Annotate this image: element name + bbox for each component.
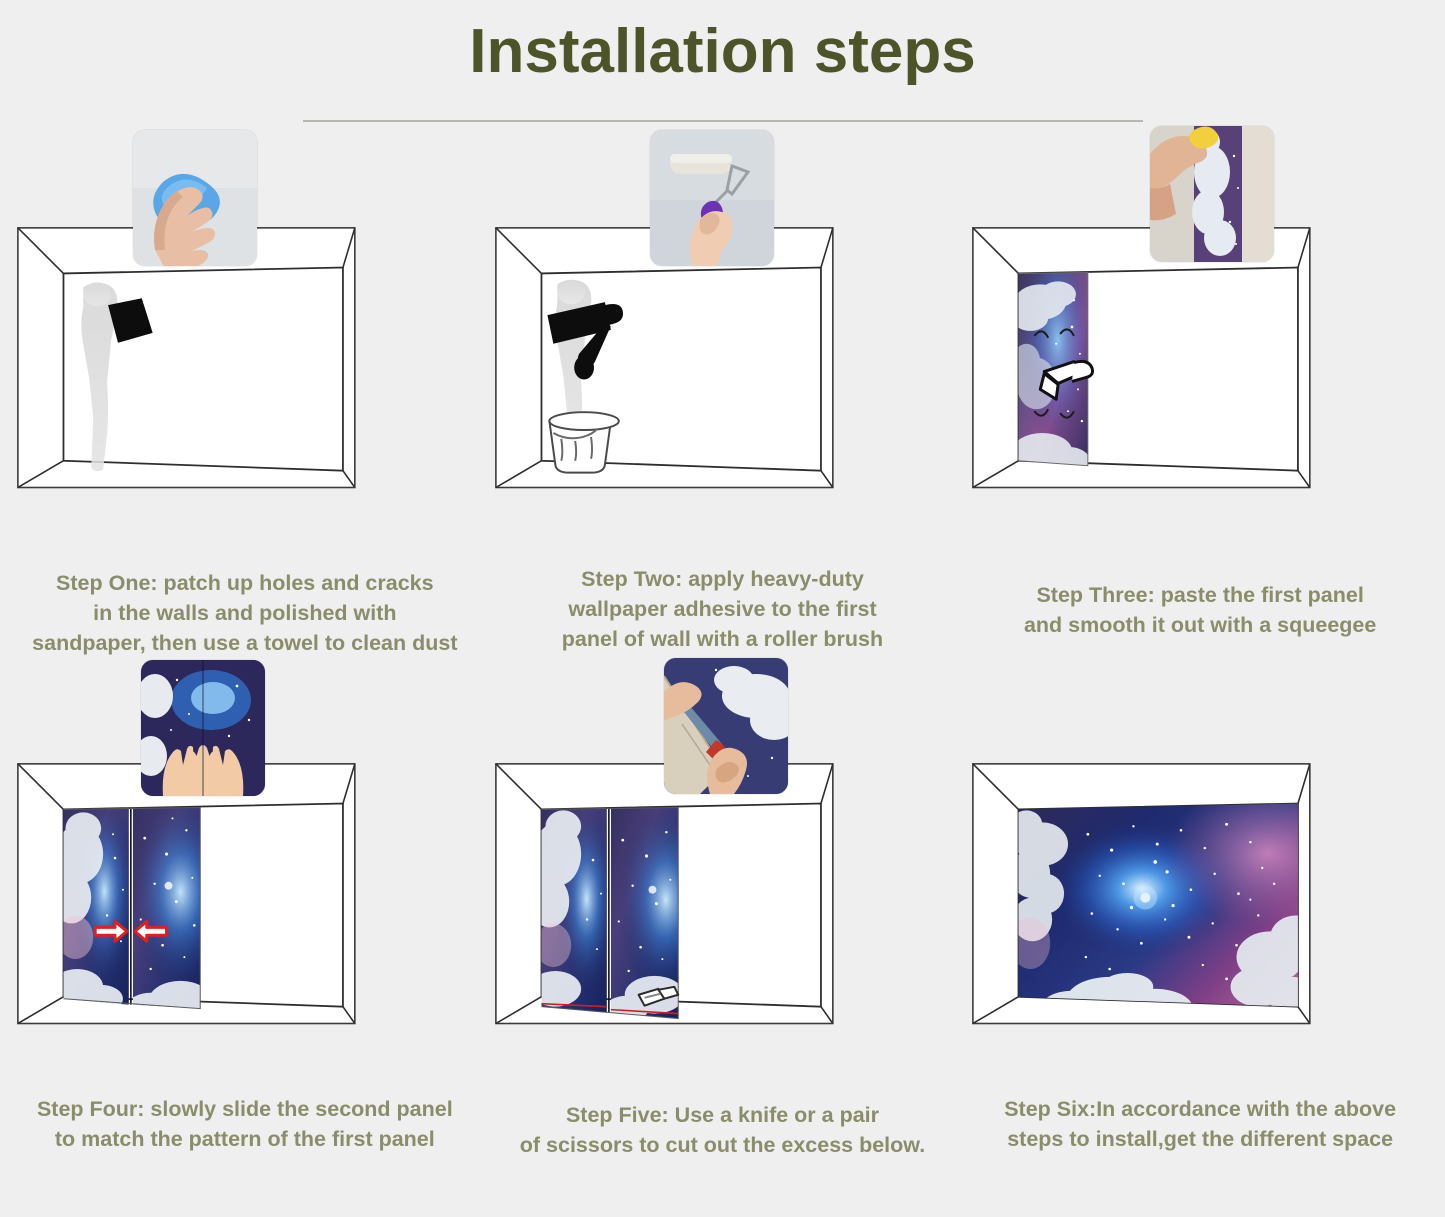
step-four-caption: Step Four: slowly slide the second panel… — [18, 1094, 472, 1154]
wallpaper-panel-1 — [529, 806, 608, 1016]
hand-holding-paint-roller-photo — [650, 130, 774, 266]
step-card-one: Step One: patch up holes and cracks in t… — [6, 122, 484, 658]
step-card-three: Step Three: paste the first panel and sm… — [961, 122, 1439, 658]
step-three-caption: Step Three: paste the first panel and sm… — [973, 580, 1427, 640]
step-six-caption: Step Six:In accordance with the above st… — [973, 1094, 1427, 1154]
page-title: Installation steps — [0, 6, 1445, 98]
hand-wiping-wall-with-blue-cloth-photo — [133, 130, 257, 266]
hands-cutting-wallpaper-with-utility-knife-photo — [664, 658, 788, 794]
step-six-illustration — [961, 658, 1439, 1058]
step-card-two: Step Two: apply heavy-duty wallpaper adh… — [484, 122, 962, 658]
step-card-four: Step Four: slowly slide the second panel… — [6, 658, 484, 1182]
wallpaper-panel-1 — [52, 806, 131, 1012]
step-one-caption: Step One: patch up holes and cracks in t… — [18, 568, 472, 658]
wallpaper-full-wall — [1011, 802, 1322, 1029]
two-hands-smoothing-galaxy-wallpaper-photo — [141, 660, 265, 796]
installation-steps-grid: Step One: patch up holes and cracks in t… — [0, 122, 1445, 1182]
step-card-six: Step Six:In accordance with the above st… — [961, 658, 1439, 1182]
page-header: Installation steps — [0, 0, 1445, 122]
hand-smoothing-wallpaper-with-yellow-squeegee-photo — [1150, 126, 1274, 262]
step-five-caption: Step Five: Use a knife or a pair of scis… — [496, 1100, 950, 1160]
step-two-caption: Step Two: apply heavy-duty wallpaper adh… — [496, 564, 950, 654]
step-card-five: Step Five: Use a knife or a pair of scis… — [484, 658, 962, 1182]
